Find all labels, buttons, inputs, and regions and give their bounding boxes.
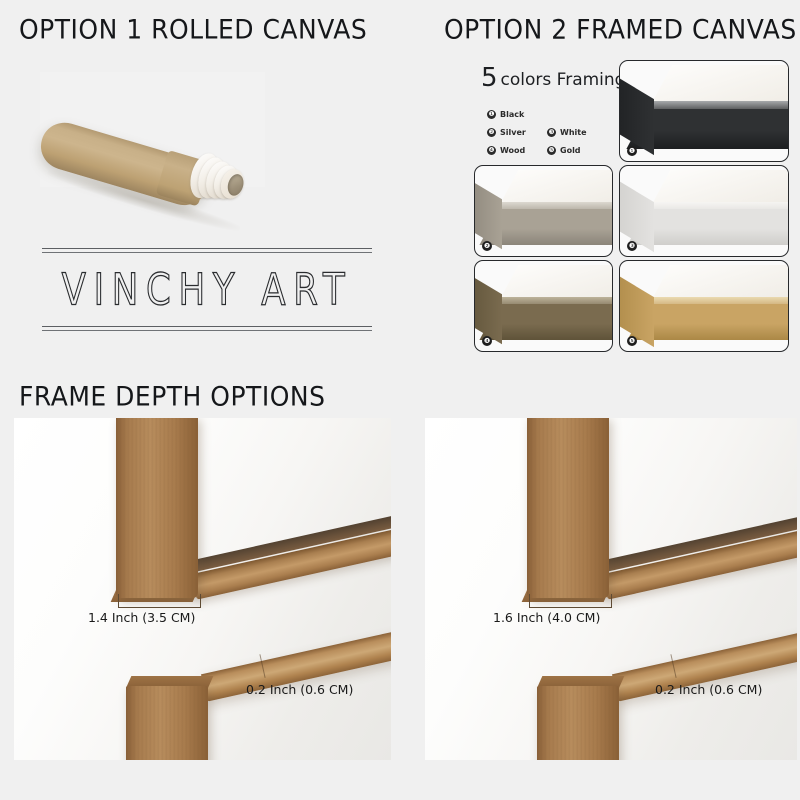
- frame-post-lower: [537, 686, 619, 760]
- depth-dimension-label: 1.4 Inch (3.5 CM): [88, 610, 195, 625]
- frame-depth-heading: FRAME DEPTH OPTIONS: [19, 381, 325, 412]
- framing-color-count: 5: [481, 63, 498, 93]
- swatch-side-face: [474, 271, 502, 344]
- badge-2-icon: ❷: [487, 128, 496, 137]
- legend-label-wood: Wood: [500, 146, 525, 155]
- legend-label-gold: Gold: [560, 146, 581, 155]
- framing-colors-title: 5colors Framing: [481, 63, 625, 93]
- frame-post-lower: [126, 686, 208, 760]
- rolled-canvas-photo: [40, 72, 265, 187]
- depth-leader-right: [200, 594, 201, 608]
- legend-item-gold: ❺ Gold: [547, 146, 605, 155]
- swatch-number-3: ❸: [627, 241, 637, 251]
- depth-leader-right: [611, 594, 612, 608]
- depth-leader-left: [118, 594, 119, 608]
- depth-leader-span: [529, 607, 611, 608]
- frame-color-legend: ❶ Black ❷ Silver ❸ White ❹ Wood ❺ Gold: [487, 110, 612, 155]
- framing-title-rest: colors Framing: [501, 70, 626, 90]
- thickness-dimension-label: 0.2 Inch (0.6 CM): [246, 682, 353, 697]
- thickness-dimension-label: 0.2 Inch (0.6 CM): [655, 682, 762, 697]
- frame-post-upper: [116, 418, 198, 598]
- badge-1-icon: ❶: [487, 110, 496, 119]
- frame-swatch-wood[interactable]: ❹: [474, 260, 613, 352]
- swatch-number-1: ❶: [627, 146, 637, 156]
- legend-label-white: White: [560, 128, 587, 137]
- badge-4-icon: ❹: [487, 146, 496, 155]
- legend-label-black: Black: [500, 110, 524, 119]
- frame-depth-photo-left: 1.4 Inch (3.5 CM) 0.2 Inch (0.6 CM): [14, 418, 391, 760]
- frame-swatch-white[interactable]: ❸: [619, 165, 789, 257]
- depth-dimension-label: 1.6 Inch (4.0 CM): [493, 610, 600, 625]
- legend-item-black: ❶ Black: [487, 110, 605, 119]
- swatch-side-face: [619, 71, 654, 155]
- legend-item-wood: ❹ Wood: [487, 146, 545, 155]
- frame-swatch-gold[interactable]: ❺: [619, 260, 789, 352]
- swatch-side-face: [619, 268, 654, 347]
- depth-leader-left: [529, 594, 530, 608]
- frame-swatch-black[interactable]: ❶: [619, 60, 789, 162]
- option1-heading: OPTION 1 ROLLED CANVAS: [19, 14, 367, 45]
- frame-post-upper: [527, 418, 609, 598]
- swatch-side-face: [619, 173, 654, 252]
- depth-leader-span: [118, 607, 200, 608]
- swatch-number-2: ❷: [482, 241, 492, 251]
- legend-item-silver: ❷ Silver: [487, 128, 545, 137]
- logo-wordmark: VINCHY ART: [49, 247, 366, 331]
- swatch-number-5: ❺: [627, 336, 637, 346]
- frame-depth-photo-right: 1.6 Inch (4.0 CM) 0.2 Inch (0.6 CM): [425, 418, 797, 760]
- swatch-number-4: ❹: [482, 336, 492, 346]
- legend-label-silver: Silver: [500, 128, 526, 137]
- option2-heading: OPTION 2 FRAMED CANVAS: [444, 14, 797, 45]
- frame-swatch-silver[interactable]: ❷: [474, 165, 613, 257]
- swatch-side-face: [474, 176, 502, 249]
- badge-5-icon: ❺: [547, 146, 556, 155]
- badge-3-icon: ❸: [547, 128, 556, 137]
- legend-item-white: ❸ White: [547, 128, 605, 137]
- brand-logo: VINCHY ART: [42, 248, 372, 331]
